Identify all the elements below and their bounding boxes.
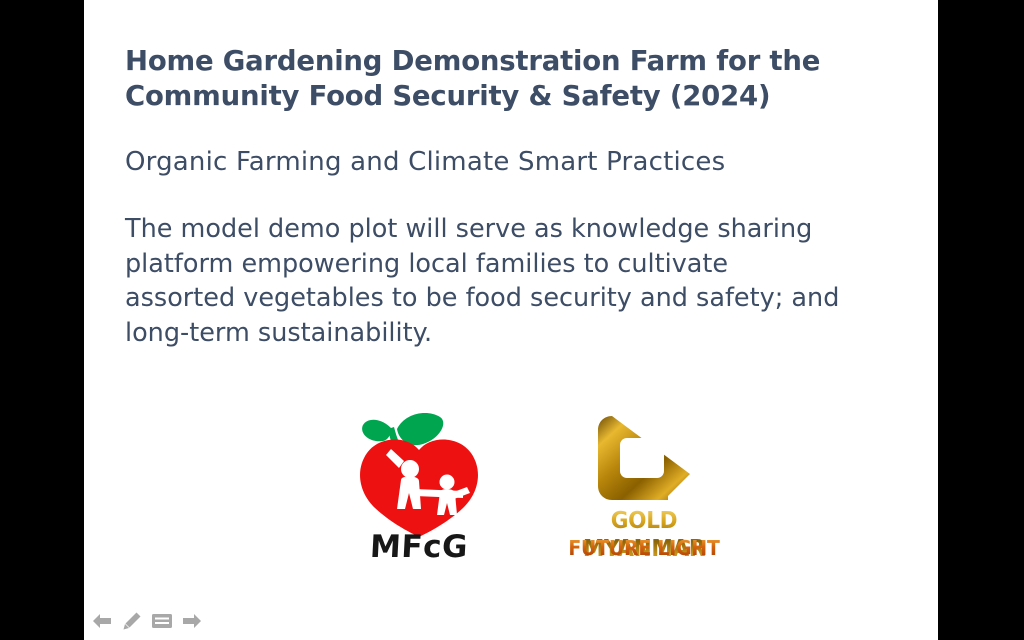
- slide-title-line-1: Home Gardening Demonstration Farm for th…: [125, 44, 925, 79]
- gold-myanmar-logo: GOLD MYANMAR FUTURE LIGHT: [539, 412, 749, 577]
- next-slide-button[interactable]: [180, 609, 204, 633]
- arrow-left-icon: [91, 611, 113, 631]
- arrow-right-icon: [181, 611, 203, 631]
- notes-button[interactable]: [150, 609, 174, 633]
- slide-navigation-toolbar[interactable]: [90, 608, 204, 634]
- paragraph-line-1: The model demo plot will serve as knowle…: [125, 212, 935, 247]
- presentation-viewer: Home Gardening Demonstration Farm for th…: [0, 0, 1024, 640]
- slide-text-content: Home Gardening Demonstration Farm for th…: [125, 44, 925, 350]
- slide-title-line-2: Community Food Security & Safety (2024): [125, 79, 925, 114]
- slide-canvas[interactable]: Home Gardening Demonstration Farm for th…: [84, 0, 938, 640]
- mfcg-apple-heart-icon: [347, 405, 492, 540]
- slide-subtitle: Organic Farming and Climate Smart Practi…: [125, 146, 925, 178]
- pencil-icon: [122, 611, 142, 631]
- mfcg-logo: MFcG: [339, 405, 499, 585]
- previous-slide-button[interactable]: [90, 609, 114, 633]
- logo-row: MFcG: [84, 400, 938, 590]
- edit-slide-button[interactable]: [120, 609, 144, 633]
- paragraph-line-4: long-term sustainability.: [125, 316, 935, 351]
- gold-myanmar-mark-icon: [594, 412, 694, 504]
- slide-title: Home Gardening Demonstration Farm for th…: [125, 44, 925, 114]
- notes-icon: [151, 612, 173, 630]
- paragraph-line-3: assorted vegetables to be food security …: [125, 281, 935, 316]
- paragraph-line-2: platform empowering local families to cu…: [125, 247, 935, 282]
- gold-myanmar-tagline: FUTURE LIGHT: [547, 536, 740, 560]
- slide-paragraph: The model demo plot will serve as knowle…: [125, 212, 935, 350]
- mfcg-wordmark: MFcG: [338, 529, 500, 565]
